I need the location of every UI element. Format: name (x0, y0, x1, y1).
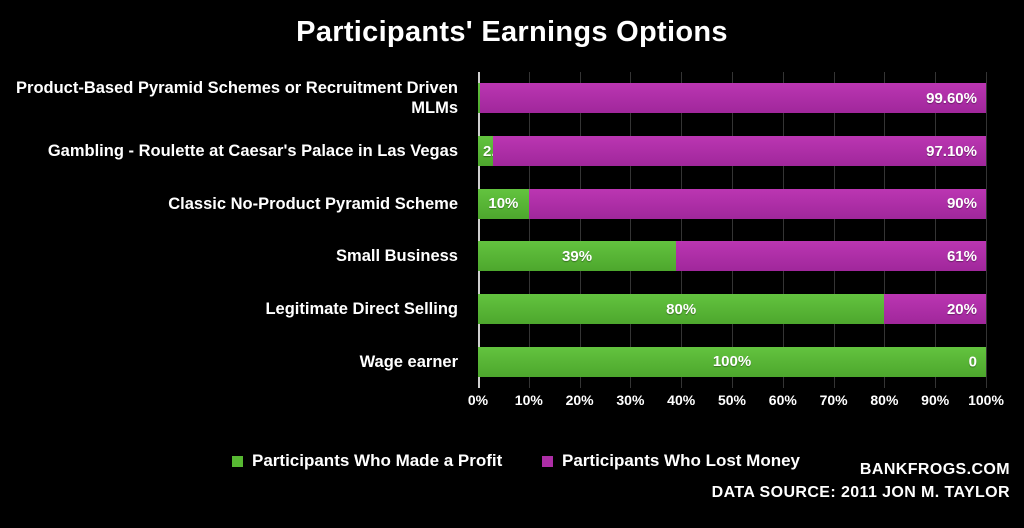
bar-value-label: 97.10% (926, 144, 986, 159)
x-tick-label: 90% (921, 392, 949, 408)
bar-row: 80%20% (478, 294, 986, 324)
x-tick-label: 100% (968, 392, 1004, 408)
x-tick-label: 10% (515, 392, 543, 408)
x-axis-tick-labels: 0%10%20%30%40%50%60%70%80%90%100% (478, 392, 986, 416)
bar-segment-profit[interactable]: 39% (478, 241, 676, 271)
bar-value-label: 10% (482, 196, 524, 211)
category-label: Gambling - Roulette at Caesar's Palace i… (0, 141, 462, 161)
bar-row: 10%90% (478, 189, 986, 219)
gridline (986, 72, 987, 388)
category-label: Classic No-Product Pyramid Scheme (0, 194, 462, 214)
bar-value-label: 99.60% (926, 91, 986, 106)
legend-item-profit[interactable]: Participants Who Made a Profit (232, 448, 502, 474)
bar-value-label: 20% (947, 302, 986, 317)
legend-label-profit: Participants Who Made a Profit (252, 451, 502, 471)
bar-value-label: 0 (969, 354, 977, 369)
x-tick-label: 80% (870, 392, 898, 408)
bar-value-label: 100% (707, 354, 757, 369)
bar-segment-loss[interactable]: 90% (529, 189, 986, 219)
bar-value-label: 80% (660, 302, 702, 317)
footer-source: DATA SOURCE: 2011 JON M. TAYLOR (712, 481, 1010, 504)
bar-segment-loss[interactable]: 97.10% (493, 136, 986, 166)
bar-row: 100%0 (478, 347, 986, 377)
category-label: Product-Based Pyramid Schemes or Recruit… (0, 78, 462, 118)
bar-segment-profit[interactable]: 100% (478, 347, 986, 377)
bar-rows: 0.40%99.60%2.90%97.10%10%90%39%61%80%20%… (478, 72, 986, 388)
chart-container: Participants' Earnings Options Product-B… (0, 0, 1024, 528)
x-tick-label: 0% (468, 392, 488, 408)
category-axis-labels: Product-Based Pyramid Schemes or Recruit… (0, 72, 462, 388)
x-tick-label: 60% (769, 392, 797, 408)
legend-swatch-profit-icon (232, 456, 243, 467)
footer-site: BANKFROGS.COM (712, 458, 1010, 481)
bar-value-label: 90% (947, 196, 986, 211)
x-tick-label: 50% (718, 392, 746, 408)
legend-swatch-loss-icon (542, 456, 553, 467)
footer: BANKFROGS.COM DATA SOURCE: 2011 JON M. T… (712, 458, 1010, 504)
category-label: Legitimate Direct Selling (0, 299, 462, 319)
x-tick-label: 40% (667, 392, 695, 408)
bar-row: 0.40%99.60% (478, 83, 986, 113)
bar-row: 2.90%97.10% (478, 136, 986, 166)
bar-segment-profit[interactable]: 10% (478, 189, 529, 219)
bar-value-label: 39% (556, 249, 598, 264)
bar-segment-profit[interactable]: 2.90% (478, 136, 493, 166)
x-tick-label: 20% (566, 392, 594, 408)
bar-segment-profit[interactable]: 80% (478, 294, 884, 324)
category-label: Wage earner (0, 352, 462, 372)
x-tick-label: 30% (616, 392, 644, 408)
bar-segment-loss[interactable]: 61% (676, 241, 986, 271)
x-tick-label: 70% (820, 392, 848, 408)
plot-area: 0.40%99.60%2.90%97.10%10%90%39%61%80%20%… (478, 72, 986, 388)
chart-title: Participants' Earnings Options (0, 16, 1024, 49)
category-label: Small Business (0, 246, 462, 266)
bar-value-label: 61% (947, 249, 986, 264)
bar-segment-loss[interactable]: 20% (884, 294, 986, 324)
bar-row: 39%61% (478, 241, 986, 271)
bar-segment-loss[interactable]: 99.60% (480, 83, 986, 113)
